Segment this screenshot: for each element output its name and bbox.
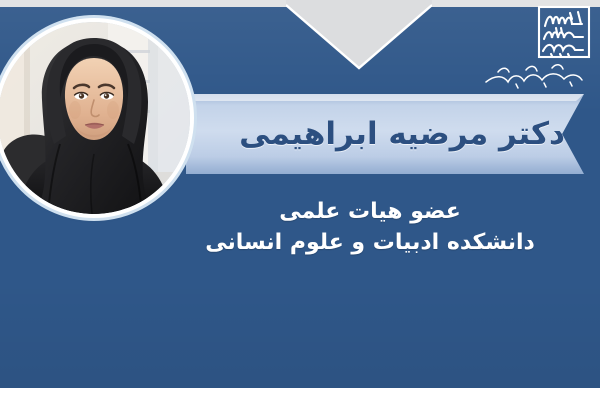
name-ribbon: دکتر مرضیه ابراهیمی [186,94,584,174]
subtitle-faculty: دانشکده ادبیات و علوم انسانی [170,227,570,258]
university-logo [482,4,594,92]
subtitle-block: عضو هیات علمی دانشکده ادبیات و علوم انسا… [170,196,570,258]
subtitle-role: عضو هیات علمی [170,196,570,227]
person-name: دکتر مرضیه ابراهیمی [186,94,584,174]
profile-banner: دکتر مرضیه ابراهیمی عضو هیات علمی دانشکد… [0,0,600,400]
portrait-photo [0,22,190,214]
